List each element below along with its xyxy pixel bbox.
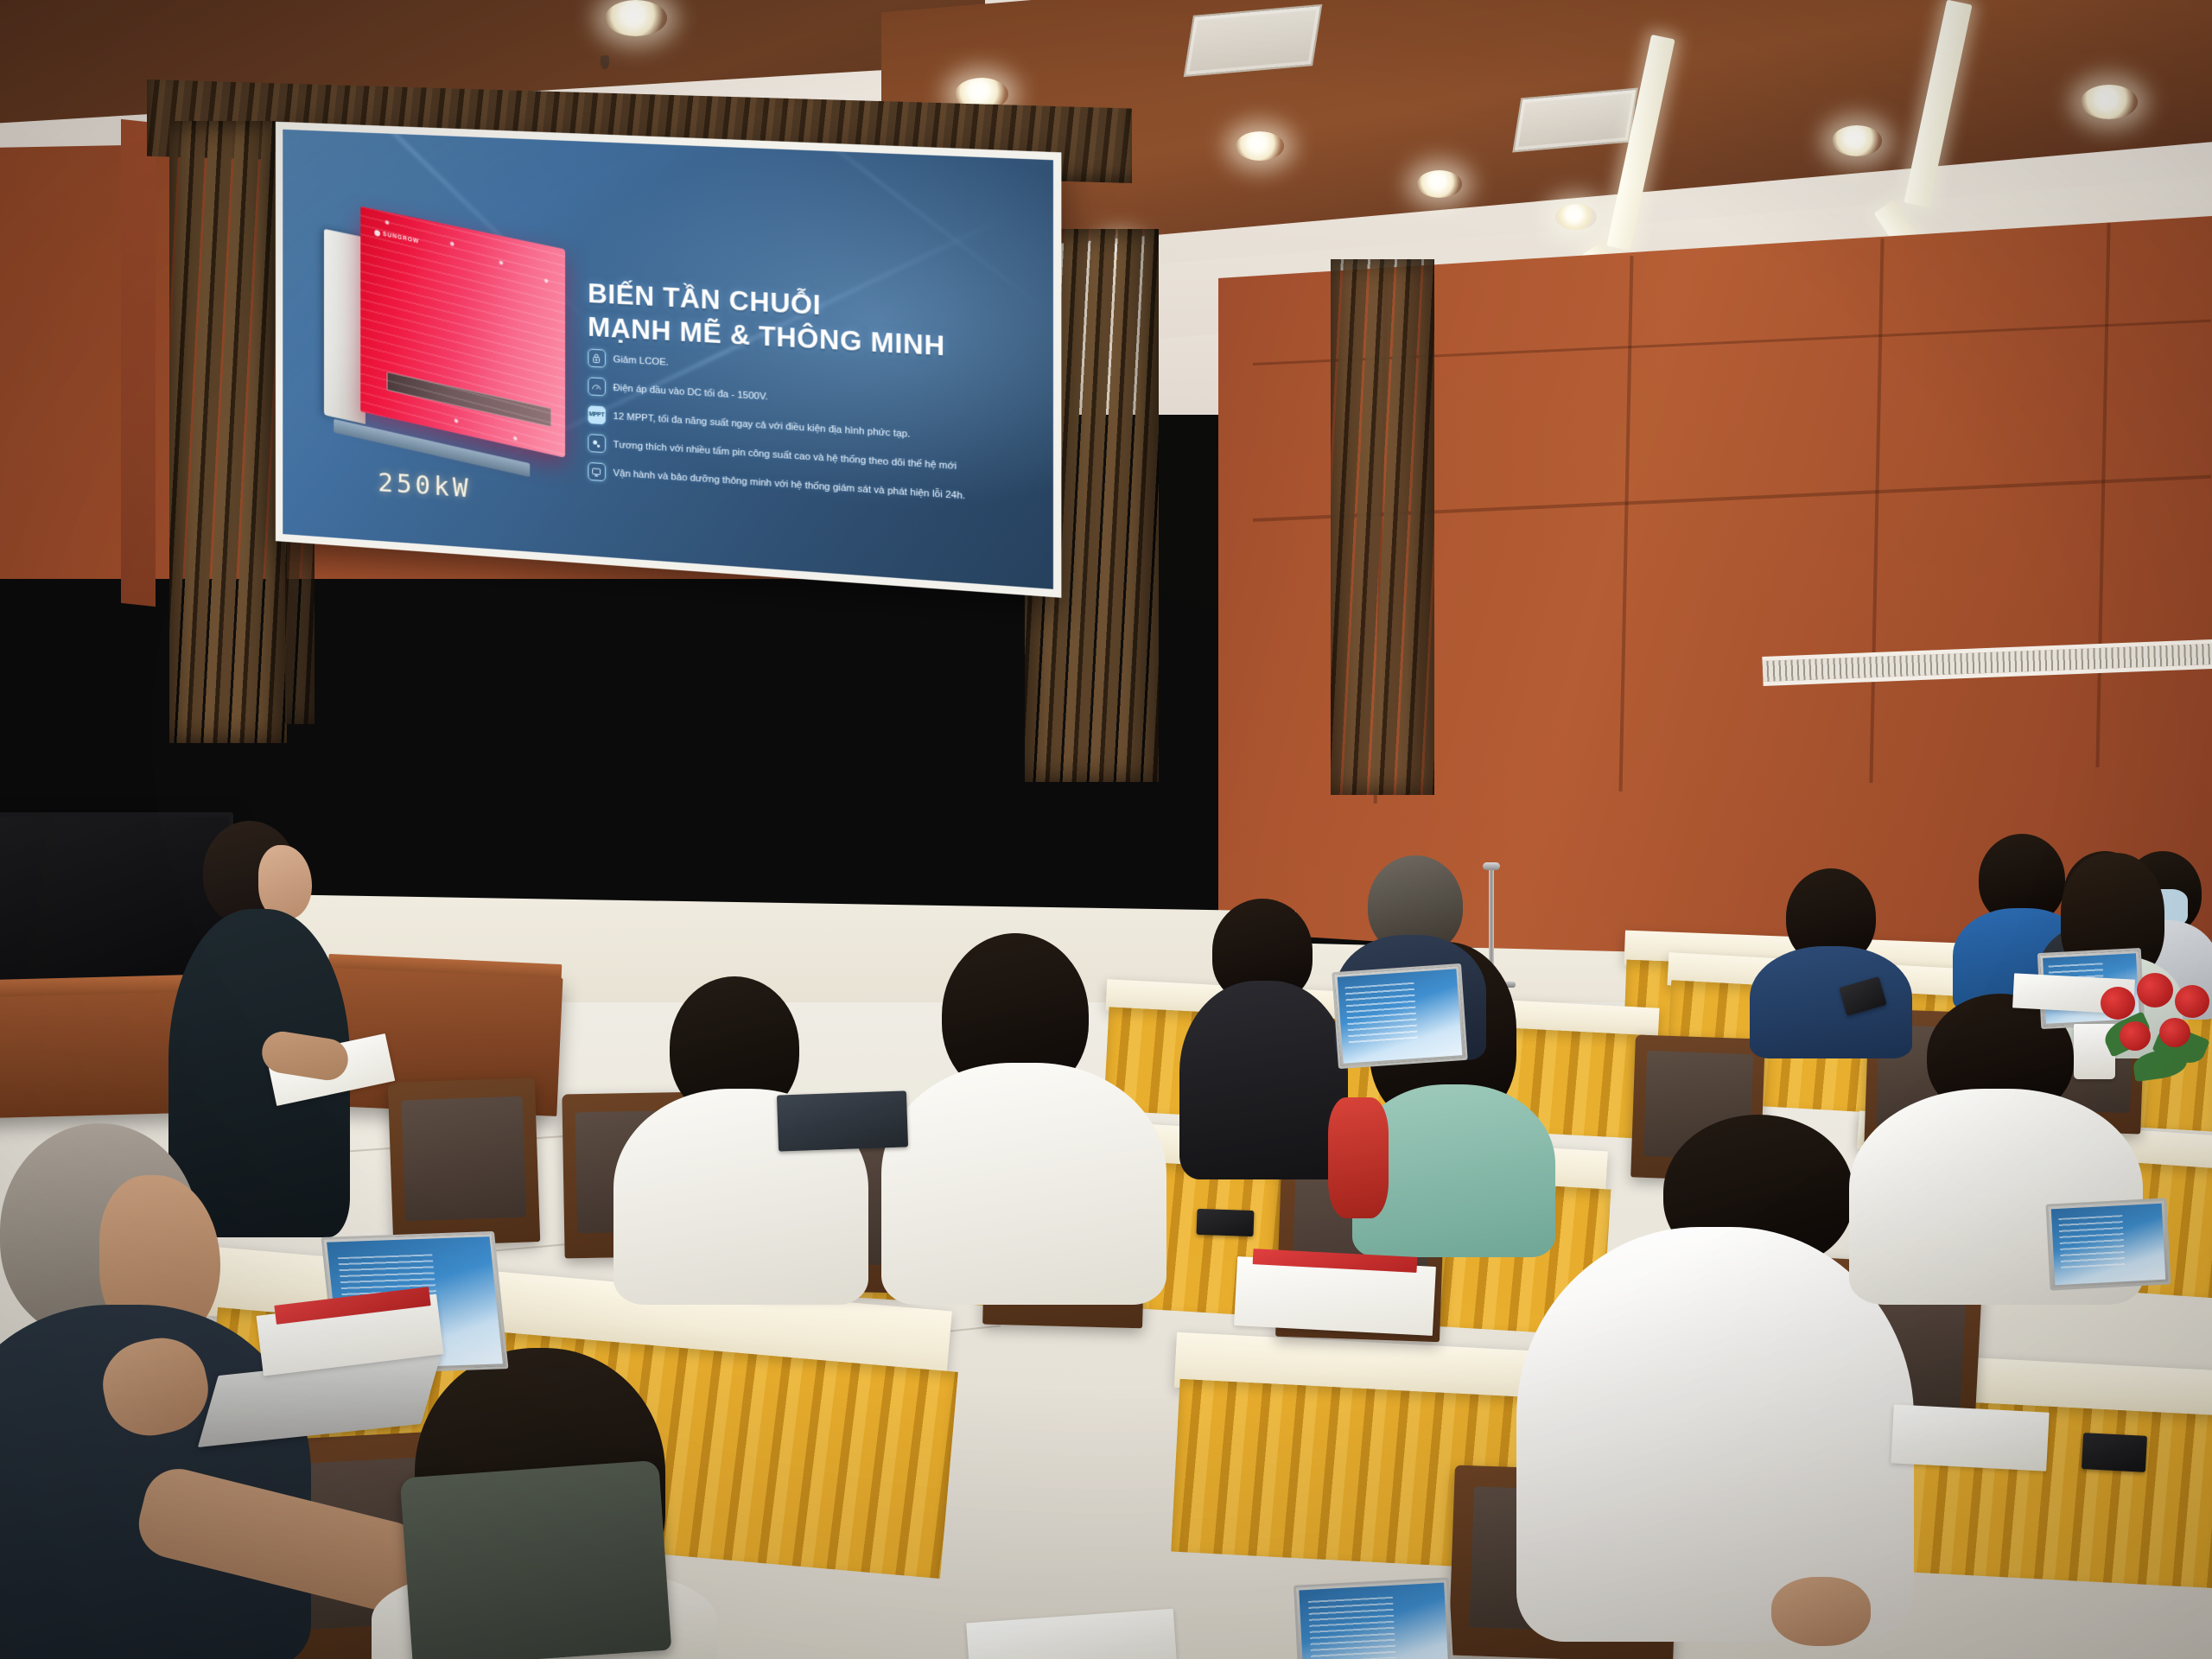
laptop-screen <box>1299 1583 1448 1659</box>
conference-room-photo: SUNGROW 250kW BIẾN TẦN CHUỖI MẠNH MẼ & T… <box>0 0 2212 1659</box>
laptop-bottom-center-lid <box>1294 1577 1454 1659</box>
attendee-scarf <box>1328 1097 1389 1218</box>
wall-strip-left <box>121 119 156 607</box>
attendee-torso <box>1179 981 1348 1179</box>
rose-flower <box>2120 1021 2151 1051</box>
slide-bullet-text: 12 MPPT, tối đa năng suất ngay cả với đi… <box>613 407 911 441</box>
laptop-mid-right-lid <box>2045 1198 2171 1290</box>
money-lock-icon <box>588 349 606 368</box>
ceiling-vent-right <box>1512 88 1637 153</box>
sprinkler-head-left <box>601 55 609 69</box>
laptop-screen <box>2051 1204 2165 1286</box>
ceiling-downlight-1 <box>605 0 667 36</box>
laptop-screen <box>1338 969 1463 1063</box>
monitor-alert-icon <box>588 462 606 481</box>
ceiling-downlight-7 <box>2081 85 2138 119</box>
brand-name: SUNGROW <box>383 232 419 245</box>
attendee-black-top <box>1171 899 1352 1158</box>
slide-bullet-text: Điện áp đầu vào DC tối đa - 1500V. <box>613 378 768 404</box>
flower-arrangement <box>2095 968 2212 1080</box>
mppt-icon-label: MPPT <box>589 411 605 418</box>
backpack <box>400 1460 672 1659</box>
gears-icon <box>588 434 606 453</box>
inverter-side-panel <box>324 229 365 424</box>
slide-bullet-text: Giảm LCOE. <box>613 350 669 369</box>
ceiling-downlight-5 <box>1555 204 1597 230</box>
documents-right-table <box>1891 1404 2049 1471</box>
mppt-icon: MPPT <box>588 405 606 424</box>
ceiling-downlight-3 <box>1236 131 1284 161</box>
inverter-screw-2 <box>449 241 454 246</box>
inverter-screw-5 <box>454 417 458 423</box>
attendee-hand <box>1771 1577 1871 1646</box>
curtain-left-panel <box>169 121 287 743</box>
mobile-phone-center-table <box>1196 1209 1254 1236</box>
attendee-white-blouse-center <box>881 933 1166 1279</box>
gauge-icon <box>588 377 606 396</box>
mobile-phone-right-table <box>2082 1433 2147 1472</box>
rose-flower <box>2159 1018 2190 1047</box>
rose-flower <box>2137 973 2173 1007</box>
inverter-display-strip <box>386 372 550 427</box>
ceiling-vent-left <box>1184 4 1323 77</box>
laptop-right-front-lid <box>1332 963 1467 1069</box>
ceiling-downlight-4 <box>1417 170 1462 198</box>
inverter-screw-3 <box>499 260 503 265</box>
rose-flower <box>2101 987 2135 1020</box>
rose-flower <box>2175 985 2209 1018</box>
device-box-center <box>777 1090 908 1151</box>
inverter-brand-logo: SUNGROW <box>374 230 419 245</box>
inverter-screw-6 <box>513 435 518 441</box>
slide-content: SUNGROW 250kW BIẾN TẦN CHUỖI MẠNH MẼ & T… <box>283 130 1053 589</box>
slide-bullet-list: Giảm LCOE. Điện áp đầu vào DC tối đa - 1… <box>588 349 1045 521</box>
brand-dot-icon <box>374 230 380 237</box>
inverter-screw-4 <box>544 278 549 283</box>
slide-headline: BIẾN TẦN CHUỖI MẠNH MẼ & THÔNG MINH <box>588 276 945 364</box>
inverter-power-label: 250kW <box>378 467 471 505</box>
attendee-torso <box>881 1063 1166 1305</box>
projection-screen: SUNGROW 250kW BIẾN TẦN CHUỖI MẠNH MẼ & T… <box>276 122 1061 598</box>
ceiling-downlight-6 <box>1832 125 1882 156</box>
leaf-shape <box>2132 1047 2189 1082</box>
inverter-screw-1 <box>385 219 389 225</box>
curtain-far-right <box>1331 259 1434 795</box>
inverter-product-image: SUNGROW <box>319 216 564 459</box>
inverter-front-panel: SUNGROW <box>360 206 565 457</box>
